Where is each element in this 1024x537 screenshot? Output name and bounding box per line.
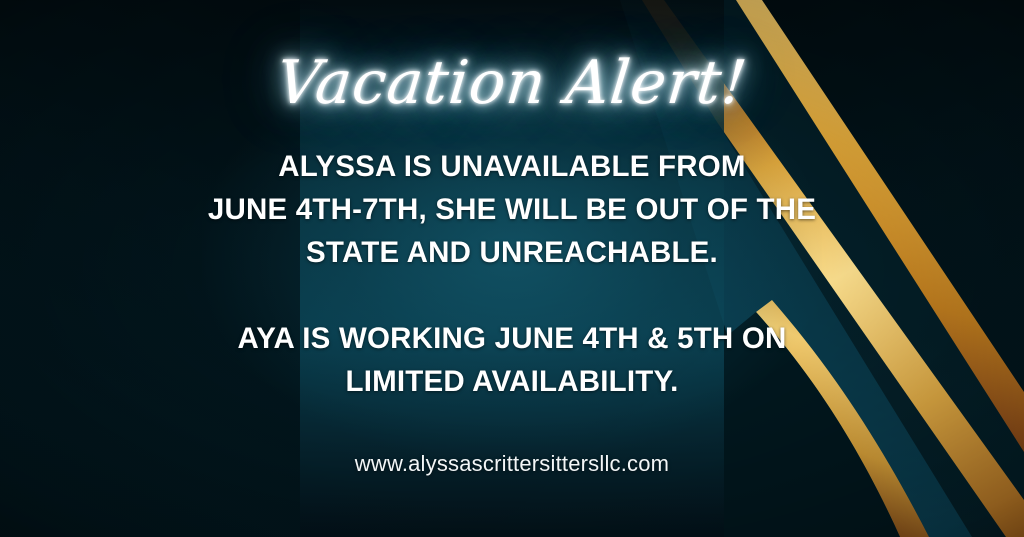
vacation-alert-poster: Vacation Alert! ALYSSA IS UNAVAILABLE FR… [0,0,1024,537]
website-url[interactable]: www.alyssascrittersittersllc.com [355,451,669,477]
announcement-body: ALYSSA IS UNAVAILABLE FROM JUNE 4TH-7TH,… [202,145,822,403]
announcement-line-3: STATE AND UNREACHABLE. [202,231,822,274]
announcement-line-1: ALYSSA IS UNAVAILABLE FROM [202,145,822,188]
announcement-line-4: AYA IS WORKING JUNE 4TH & 5TH ON [202,317,822,360]
poster-content: Vacation Alert! ALYSSA IS UNAVAILABLE FR… [0,0,1024,537]
paragraph-gap [202,274,822,317]
announcement-line-2: JUNE 4TH-7TH, SHE WILL BE OUT OF THE [202,188,822,231]
page-title: Vacation Alert! [274,52,751,115]
announcement-line-5: LIMITED AVAILABILITY. [202,360,822,403]
